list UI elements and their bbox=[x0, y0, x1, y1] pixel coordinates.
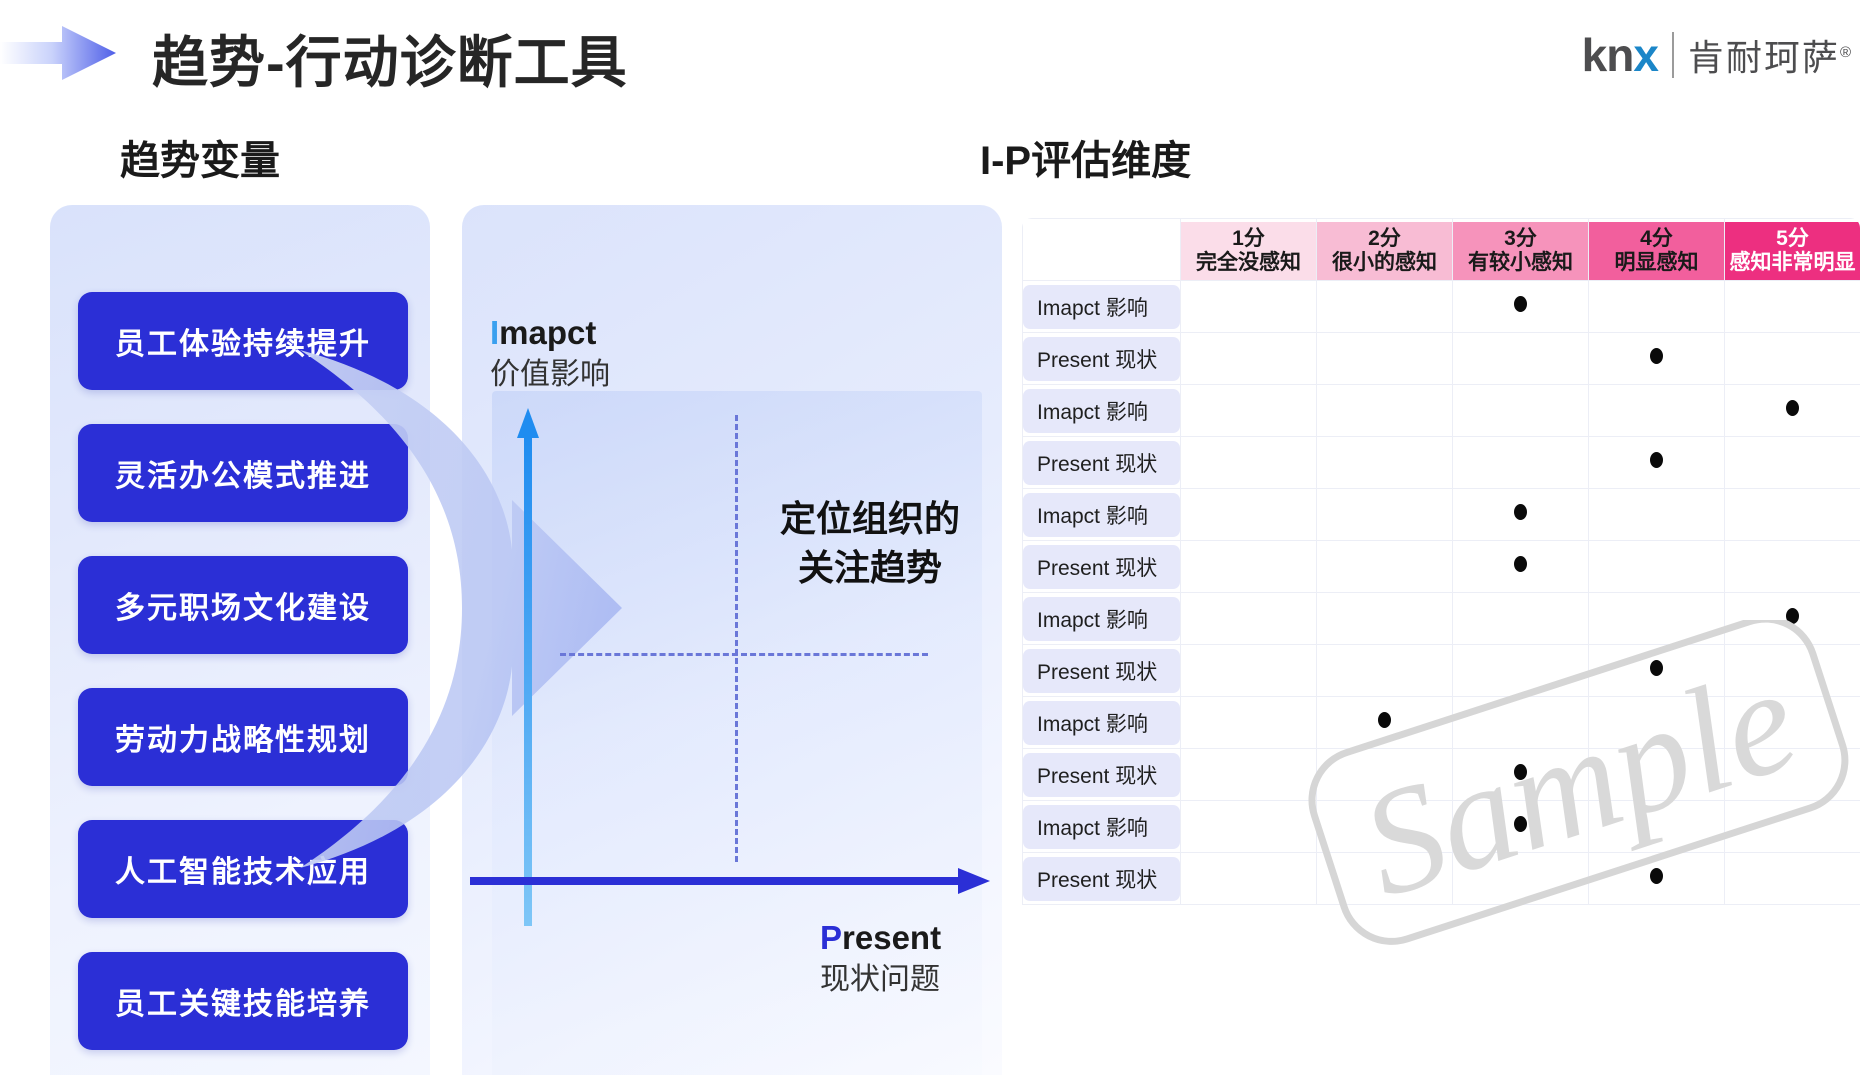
score-cell[interactable] bbox=[1453, 749, 1589, 801]
table-row: Imapct 影响 bbox=[1023, 489, 1861, 541]
selected-dot-icon bbox=[1514, 504, 1527, 520]
logo-kn: kn bbox=[1582, 29, 1634, 81]
ip-assessment-table: 1分完全没感知2分很小的感知3分有较小感知4分明显感知5分感知非常明显 Imap… bbox=[1022, 218, 1860, 1070]
selected-dot-icon bbox=[1514, 556, 1527, 572]
quadrant-annotation: 定位组织的 关注趋势 bbox=[755, 495, 985, 592]
selected-dot-icon bbox=[1650, 452, 1663, 468]
score-column-header-chip: 1分完全没感知 bbox=[1181, 222, 1316, 280]
brand-logo: knx 肯耐珂萨® bbox=[1582, 26, 1853, 84]
selected-dot-icon bbox=[1514, 296, 1527, 312]
row-label-cell: Imapct 影响 bbox=[1023, 801, 1181, 853]
slide-canvas: 趋势-行动诊断工具 knx 肯耐珂萨® 趋势变量 I-P评估维度 员工体验持续提… bbox=[0, 0, 1875, 1075]
logo-chinese: 肯耐珂萨® bbox=[1688, 29, 1853, 81]
table-row: Present 现状 bbox=[1023, 333, 1861, 385]
score-cell[interactable] bbox=[1725, 645, 1861, 697]
x-axis-label-rest: resent bbox=[842, 919, 941, 956]
score-cell[interactable] bbox=[1453, 437, 1589, 489]
score-column-label: 明显感知 bbox=[1615, 251, 1699, 275]
score-cell[interactable] bbox=[1589, 281, 1725, 333]
logo-divider bbox=[1672, 32, 1674, 78]
row-label: Imapct 影响 bbox=[1023, 701, 1180, 745]
row-label: Present 现状 bbox=[1023, 649, 1180, 693]
row-label: Present 现状 bbox=[1023, 337, 1180, 381]
score-cell[interactable] bbox=[1181, 749, 1317, 801]
trend-variable-item[interactable]: 劳动力战略性规划 bbox=[78, 688, 408, 786]
score-cell[interactable] bbox=[1181, 437, 1317, 489]
score-cell[interactable] bbox=[1181, 697, 1317, 749]
table-row: Present 现状 bbox=[1023, 541, 1861, 593]
row-label: Imapct 影响 bbox=[1023, 285, 1180, 329]
row-label-cell: Present 现状 bbox=[1023, 645, 1181, 697]
score-cell[interactable] bbox=[1317, 281, 1453, 333]
score-cell[interactable] bbox=[1453, 541, 1589, 593]
score-grid: 1分完全没感知2分很小的感知3分有较小感知4分明显感知5分感知非常明显 Imap… bbox=[1022, 218, 1860, 905]
score-cell[interactable] bbox=[1317, 593, 1453, 645]
score-cell[interactable] bbox=[1317, 697, 1453, 749]
x-axis-label-cn: 现状问题 bbox=[820, 960, 941, 999]
score-cell[interactable] bbox=[1725, 385, 1861, 437]
row-label-cell: Imapct 影响 bbox=[1023, 593, 1181, 645]
trend-variable-item[interactable]: 多元职场文化建设 bbox=[78, 556, 408, 654]
score-column-header: 1分完全没感知 bbox=[1181, 219, 1317, 281]
y-axis-label-cn: 价值影响 bbox=[490, 355, 610, 394]
score-cell[interactable] bbox=[1589, 541, 1725, 593]
x-axis-label-en: Present bbox=[820, 920, 941, 956]
score-cell[interactable] bbox=[1589, 385, 1725, 437]
header-blank-cell bbox=[1023, 219, 1181, 281]
x-axis-arrow-icon bbox=[470, 868, 990, 894]
score-cell[interactable] bbox=[1725, 697, 1861, 749]
trend-variables-list: 员工体验持续提升 灵活办公模式推进 多元职场文化建设 劳动力战略性规划 人工智能… bbox=[78, 292, 408, 1075]
table-row: Imapct 影响 bbox=[1023, 697, 1861, 749]
score-cell[interactable] bbox=[1589, 489, 1725, 541]
score-cell[interactable] bbox=[1181, 489, 1317, 541]
score-column-header: 2分很小的感知 bbox=[1317, 219, 1453, 281]
score-cell[interactable] bbox=[1589, 853, 1725, 905]
y-axis-label-en: Imapct bbox=[490, 315, 610, 351]
table-row: Present 现状 bbox=[1023, 749, 1861, 801]
trend-variable-item[interactable]: 灵活办公模式推进 bbox=[78, 424, 408, 522]
score-grid-header: 1分完全没感知2分很小的感知3分有较小感知4分明显感知5分感知非常明显 bbox=[1023, 219, 1861, 281]
row-label-cell: Present 现状 bbox=[1023, 333, 1181, 385]
score-column-score: 1分 bbox=[1232, 227, 1265, 251]
selected-dot-icon bbox=[1786, 400, 1799, 416]
score-column-header-chip: 5分感知非常明显 bbox=[1725, 222, 1860, 280]
score-cell[interactable] bbox=[1453, 697, 1589, 749]
score-cell[interactable] bbox=[1317, 541, 1453, 593]
trend-variable-item[interactable]: 员工关键技能培养 bbox=[78, 952, 408, 1050]
logo-knx-text: knx bbox=[1582, 32, 1658, 78]
score-cell[interactable] bbox=[1453, 385, 1589, 437]
score-cell[interactable] bbox=[1725, 853, 1861, 905]
right-arrow-icon bbox=[0, 22, 118, 84]
score-cell[interactable] bbox=[1317, 853, 1453, 905]
score-column-score: 5分 bbox=[1776, 227, 1809, 251]
selected-dot-icon bbox=[1650, 660, 1663, 676]
header-row: 1分完全没感知2分很小的感知3分有较小感知4分明显感知5分感知非常明显 bbox=[1023, 219, 1861, 281]
trend-variable-item[interactable]: 人工智能技术应用 bbox=[78, 820, 408, 918]
table-row: Imapct 影响 bbox=[1023, 801, 1861, 853]
table-row: Present 现状 bbox=[1023, 437, 1861, 489]
selected-dot-icon bbox=[1650, 868, 1663, 884]
x-axis-label-initial: P bbox=[820, 919, 842, 956]
y-axis-label: Imapct 价值影响 bbox=[490, 315, 610, 394]
score-cell[interactable] bbox=[1725, 749, 1861, 801]
row-label-cell: Present 现状 bbox=[1023, 853, 1181, 905]
quadrant-divider-vertical bbox=[735, 415, 738, 862]
score-cell[interactable] bbox=[1589, 749, 1725, 801]
registered-mark-icon: ® bbox=[1840, 44, 1853, 61]
score-cell[interactable] bbox=[1453, 645, 1589, 697]
score-column-header: 4分明显感知 bbox=[1589, 219, 1725, 281]
table-row: Imapct 影响 bbox=[1023, 385, 1861, 437]
score-cell[interactable] bbox=[1181, 385, 1317, 437]
row-label: Imapct 影响 bbox=[1023, 597, 1180, 641]
score-column-score: 3分 bbox=[1504, 227, 1537, 251]
y-axis-label-initial: I bbox=[490, 314, 499, 351]
table-row: Imapct 影响 bbox=[1023, 593, 1861, 645]
score-cell[interactable] bbox=[1453, 801, 1589, 853]
x-axis-label: Present 现状问题 bbox=[820, 920, 941, 999]
selected-dot-icon bbox=[1650, 348, 1663, 364]
score-cell[interactable] bbox=[1453, 593, 1589, 645]
page-title: 趋势-行动诊断工具 bbox=[152, 18, 628, 99]
selected-dot-icon bbox=[1378, 712, 1391, 728]
table-row: Imapct 影响 bbox=[1023, 281, 1861, 333]
selected-dot-icon bbox=[1514, 816, 1527, 832]
row-label-cell: Imapct 影响 bbox=[1023, 281, 1181, 333]
score-cell[interactable] bbox=[1181, 281, 1317, 333]
score-cell[interactable] bbox=[1589, 801, 1725, 853]
score-column-score: 4分 bbox=[1640, 227, 1673, 251]
row-label-cell: Imapct 影响 bbox=[1023, 489, 1181, 541]
score-cell[interactable] bbox=[1725, 281, 1861, 333]
row-label: Imapct 影响 bbox=[1023, 805, 1180, 849]
table-row: Present 现状 bbox=[1023, 853, 1861, 905]
logo-chinese-text: 肯耐珂萨 bbox=[1688, 37, 1840, 78]
score-cell[interactable] bbox=[1589, 697, 1725, 749]
score-cell[interactable] bbox=[1453, 489, 1589, 541]
left-section-heading: 趋势变量 bbox=[120, 128, 280, 186]
row-label-cell: Present 现状 bbox=[1023, 749, 1181, 801]
score-cell[interactable] bbox=[1317, 437, 1453, 489]
row-label: Present 现状 bbox=[1023, 857, 1180, 901]
score-column-header-chip: 3分有较小感知 bbox=[1453, 222, 1588, 280]
row-label: Present 现状 bbox=[1023, 441, 1180, 485]
score-column-score: 2分 bbox=[1368, 227, 1401, 251]
score-cell[interactable] bbox=[1181, 645, 1317, 697]
score-cell[interactable] bbox=[1453, 853, 1589, 905]
score-grid-body: Imapct 影响Present 现状Imapct 影响Present 现状Im… bbox=[1023, 281, 1861, 905]
score-column-header: 3分有较小感知 bbox=[1453, 219, 1589, 281]
score-column-label: 很小的感知 bbox=[1332, 251, 1437, 275]
score-column-header-chip: 4分明显感知 bbox=[1589, 222, 1724, 280]
score-column-label: 完全没感知 bbox=[1196, 251, 1301, 275]
logo-x: x bbox=[1633, 29, 1658, 81]
quadrant-divider-horizontal bbox=[560, 653, 928, 656]
score-cell[interactable] bbox=[1725, 801, 1861, 853]
row-label: Imapct 影响 bbox=[1023, 389, 1180, 433]
score-column-label: 有较小感知 bbox=[1468, 251, 1573, 275]
trend-variable-item[interactable]: 员工体验持续提升 bbox=[78, 292, 408, 390]
score-cell[interactable] bbox=[1453, 333, 1589, 385]
score-cell[interactable] bbox=[1317, 385, 1453, 437]
selected-dot-icon bbox=[1786, 608, 1799, 624]
score-cell[interactable] bbox=[1317, 333, 1453, 385]
score-cell[interactable] bbox=[1181, 541, 1317, 593]
score-cell[interactable] bbox=[1181, 853, 1317, 905]
row-label: Present 现状 bbox=[1023, 545, 1180, 589]
score-cell[interactable] bbox=[1725, 437, 1861, 489]
score-cell[interactable] bbox=[1725, 489, 1861, 541]
selected-dot-icon bbox=[1514, 764, 1527, 780]
score-cell[interactable] bbox=[1181, 801, 1317, 853]
row-label-cell: Present 现状 bbox=[1023, 541, 1181, 593]
score-cell[interactable] bbox=[1589, 593, 1725, 645]
y-axis-arrow-icon bbox=[516, 408, 540, 926]
score-cell[interactable] bbox=[1725, 593, 1861, 645]
score-cell[interactable] bbox=[1589, 437, 1725, 489]
score-column-label: 感知非常明显 bbox=[1730, 251, 1856, 275]
row-label-cell: Present 现状 bbox=[1023, 437, 1181, 489]
row-label-cell: Imapct 影响 bbox=[1023, 697, 1181, 749]
score-cell[interactable] bbox=[1589, 645, 1725, 697]
y-axis-label-rest: mapct bbox=[499, 314, 596, 351]
score-cell[interactable] bbox=[1453, 281, 1589, 333]
score-cell[interactable] bbox=[1589, 333, 1725, 385]
score-cell[interactable] bbox=[1317, 749, 1453, 801]
table-row: Present 现状 bbox=[1023, 645, 1861, 697]
row-label: Imapct 影响 bbox=[1023, 493, 1180, 537]
score-cell[interactable] bbox=[1725, 541, 1861, 593]
quadrant-annotation-line1: 定位组织的 bbox=[755, 495, 985, 544]
score-cell[interactable] bbox=[1725, 333, 1861, 385]
row-label-cell: Imapct 影响 bbox=[1023, 385, 1181, 437]
score-cell[interactable] bbox=[1317, 489, 1453, 541]
score-cell[interactable] bbox=[1317, 645, 1453, 697]
score-cell[interactable] bbox=[1181, 593, 1317, 645]
score-cell[interactable] bbox=[1317, 801, 1453, 853]
right-section-heading: I-P评估维度 bbox=[980, 128, 1191, 186]
score-column-header: 5分感知非常明显 bbox=[1725, 219, 1861, 281]
quadrant-annotation-line2: 关注趋势 bbox=[755, 544, 985, 593]
score-cell[interactable] bbox=[1181, 333, 1317, 385]
row-label: Present 现状 bbox=[1023, 753, 1180, 797]
score-column-header-chip: 2分很小的感知 bbox=[1317, 222, 1452, 280]
